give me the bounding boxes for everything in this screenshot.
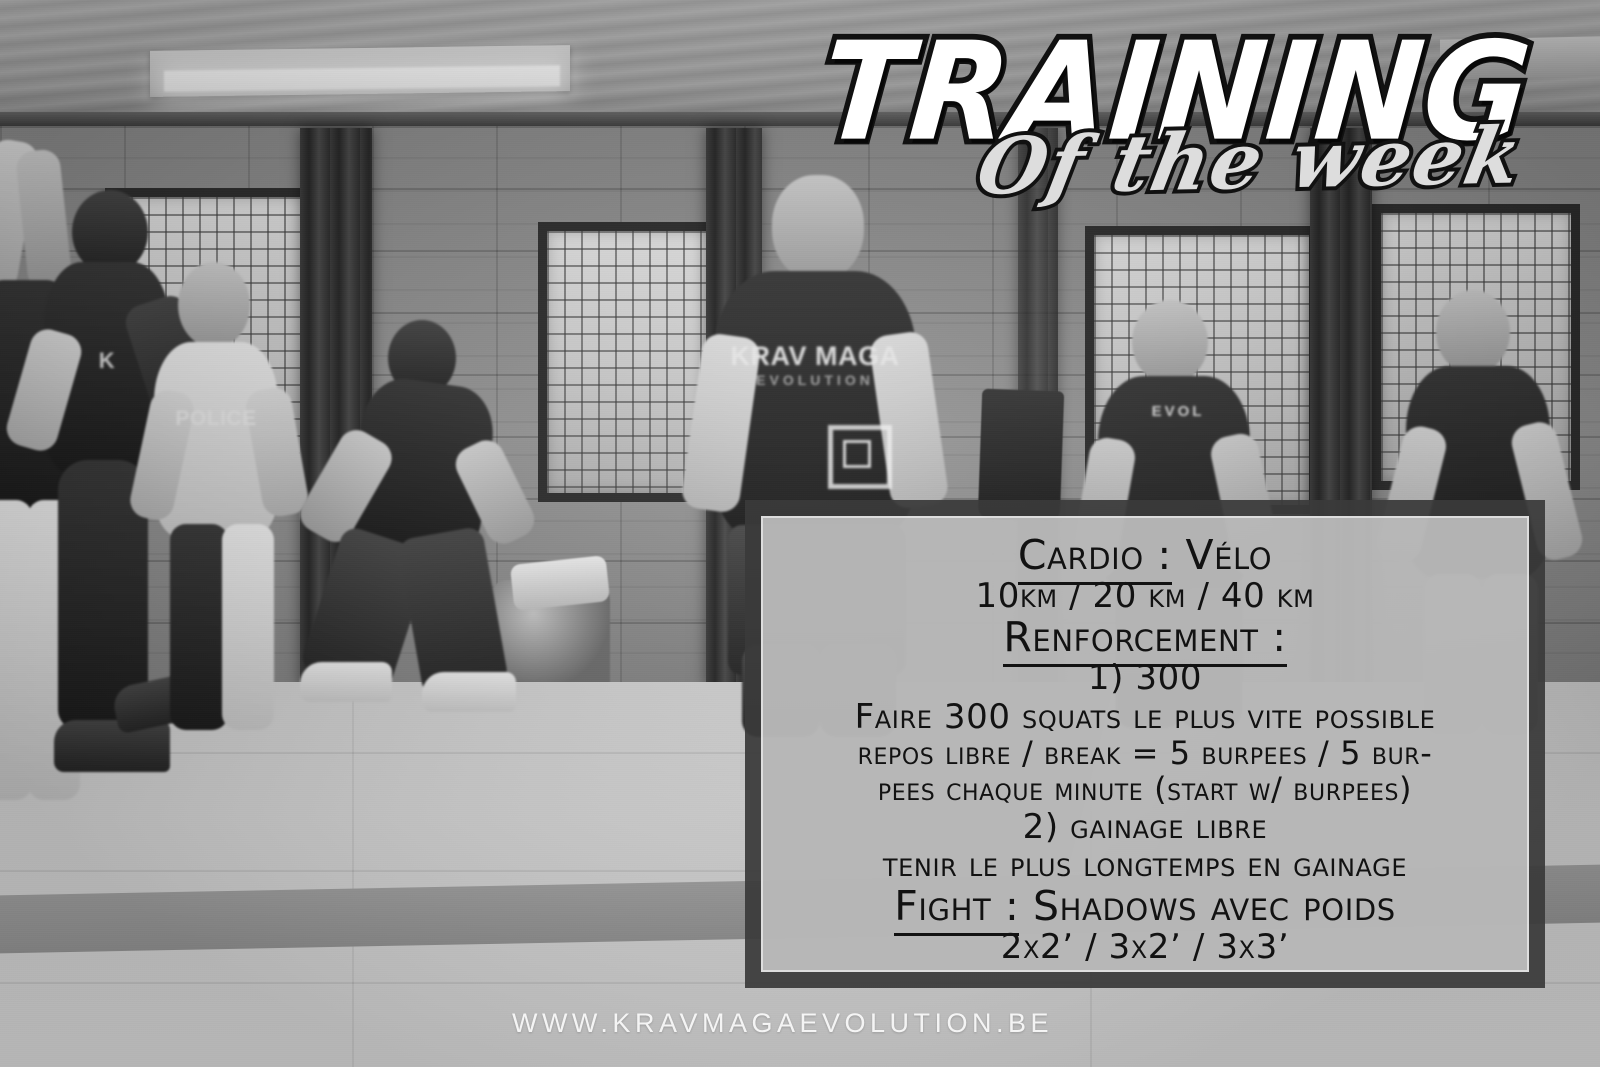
brand-logo-icon — [828, 425, 892, 489]
workout-line-fight-detail: 2x2’ / 3x2’ / 3x3’ — [785, 928, 1505, 966]
website-url[interactable]: WWW.KRAVMAGAEVOLUTION.BE — [0, 1008, 1565, 1039]
workout-line-item-1: 1) 300 — [785, 659, 1505, 697]
shirt-print-line1: KRAV MAGA — [724, 343, 906, 370]
workout-line-item-1-c: pees chaque minute (start w/ burpees) — [785, 772, 1505, 808]
tee-print-left: POLICE — [164, 408, 268, 429]
workout-line-cardio-value: Vélo — [1172, 531, 1272, 579]
ceiling-light-housing-right — [1440, 36, 1600, 79]
person-lunging — [300, 320, 540, 720]
person-white-tee: POLICE — [140, 262, 310, 732]
workout-line-cardio-detail: 10km / 20 km / 40 km — [785, 577, 1505, 615]
workout-panel: Cardio : Vélo10km / 20 km / 40 kmRenforc… — [745, 500, 1545, 988]
workout-line-item-1-a: Faire 300 squats le plus vite possible — [785, 698, 1505, 736]
workout-line-fight-value: Shadows avec poids — [1019, 882, 1395, 930]
workout-line-fight: Fight : Shadows avec poids — [785, 885, 1505, 928]
poster-root: K POLICE — [0, 0, 1600, 1067]
workout-panel-inner: Cardio : Vélo10km / 20 km / 40 kmRenforc… — [761, 516, 1529, 972]
shirt-print-line2: EVOLUTION — [724, 373, 906, 387]
workout-line-item-1-b: repos libre / break = 5 burpees / 5 bur- — [785, 736, 1505, 772]
workout-line-renforcement: Renforcement : — [785, 616, 1505, 659]
workout-line-item-2-a: tenir le plus longtemps en gainage — [785, 846, 1505, 884]
workout-line-cardio: Cardio : Vélo — [785, 534, 1505, 577]
workout-line-item-2: 2) gainage libre — [785, 808, 1505, 846]
